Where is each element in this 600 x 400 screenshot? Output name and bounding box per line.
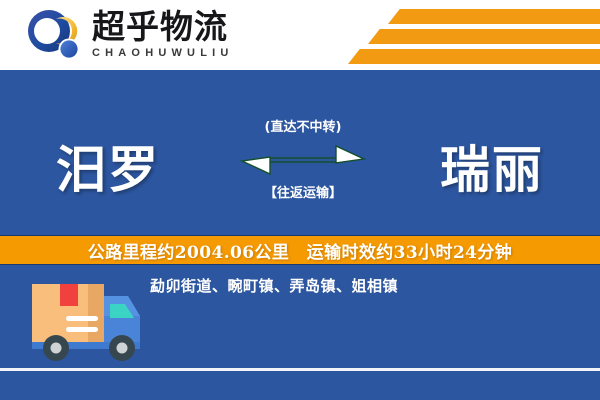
brand-name-cn: 超乎物流	[92, 8, 272, 46]
route-panel: 汨罗 (直达不中转) 【往返运输】 瑞丽 公路里程约2004.06公里 运输时效…	[0, 70, 600, 400]
brand-block: 超乎物流 CHAOHUWULIU	[92, 8, 272, 59]
chaohu-circle-logo-icon	[26, 10, 84, 62]
metrics-text: 公路里程约2004.06公里 运输时效约33小时24分钟	[88, 238, 512, 263]
destination-towns-label: 勐卯街道、畹町镇、弄岛镇、姐相镇	[150, 275, 580, 296]
metrics-bar: 公路里程约2004.06公里 运输时效约33小时24分钟	[0, 235, 600, 265]
decorative-stripe-2	[368, 29, 600, 44]
logistics-route-banner: 超乎物流 CHAOHUWULIU 汨罗 (直达不中转) 【往返运	[0, 0, 600, 400]
route-arrow-group: (直达不中转) 【往返运输】	[240, 98, 366, 228]
direct-shipping-label: (直达不中转)	[240, 116, 366, 135]
banner-header: 超乎物流 CHAOHUWULIU	[0, 0, 600, 70]
destination-city-label: 瑞丽	[440, 130, 544, 202]
road-line-icon	[0, 368, 600, 371]
decorative-stripe-3	[348, 49, 600, 64]
origin-city-label: 汨罗	[56, 130, 160, 202]
decorative-stripe-1	[388, 9, 600, 24]
route-row: 汨罗 (直达不中转) 【往返运输】 瑞丽	[0, 98, 600, 228]
truck-svg	[24, 270, 152, 366]
roundtrip-label: 【往返运输】	[240, 182, 366, 201]
delivery-truck-icon	[24, 270, 152, 371]
brand-name-en: CHAOHUWULIU	[92, 47, 272, 59]
bidirectional-arrow-icon	[240, 142, 366, 181]
arrow-svg	[240, 142, 366, 176]
logo-svg	[26, 10, 84, 62]
